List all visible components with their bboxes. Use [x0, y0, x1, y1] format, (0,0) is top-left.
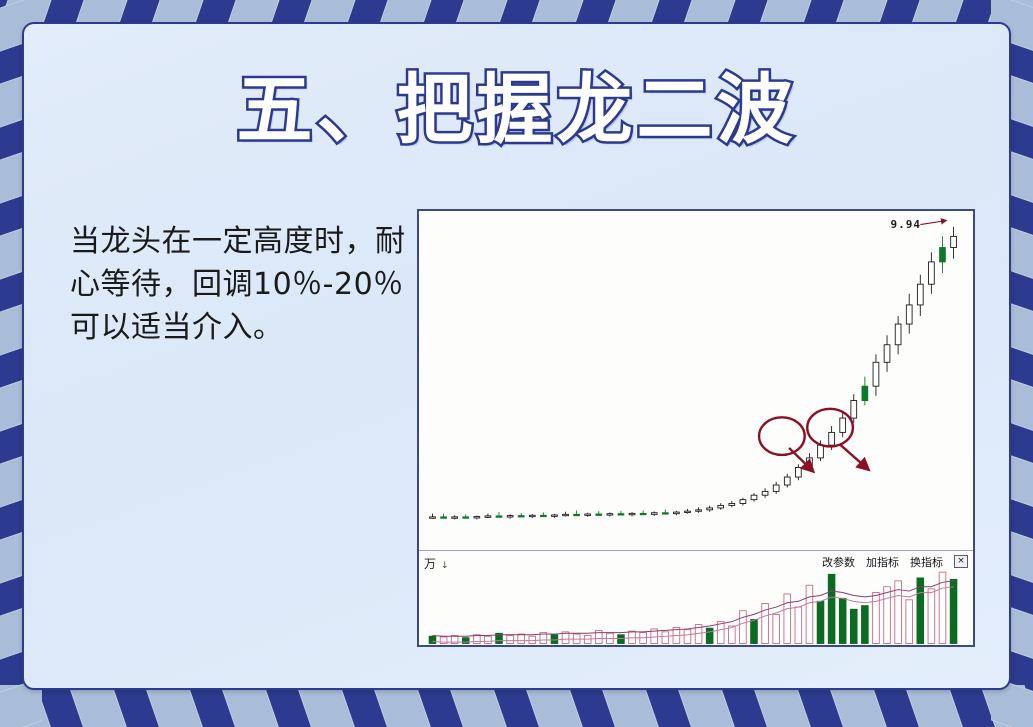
ray — [902, 685, 965, 727]
ray — [674, 685, 737, 727]
close-icon[interactable]: × — [954, 555, 968, 568]
price-label: 9.94 — [891, 218, 922, 231]
volume-unit: 万↓ — [424, 555, 449, 572]
volume-unit-label: 万 — [424, 557, 436, 571]
content-card: 五、把握龙二波 当龙头在一定高度时，耐心等待，回调10％-20％可以适当介入。 … — [22, 22, 1011, 690]
ray — [370, 685, 433, 727]
switch-indicator-button[interactable]: 换指标 — [910, 554, 943, 570]
indicator-toolbar[interactable]: 改参数 加指标 换指标 × — [822, 554, 968, 570]
chart-inner: 9.94 万↓ 改参数 加指标 换指标 × — [419, 211, 973, 645]
slide-root: 五、把握龙二波 当龙头在一定高度时，耐心等待，回调10％-20％可以适当介入。 … — [0, 0, 1033, 727]
page-title: 五、把握龙二波 — [24, 72, 1009, 148]
ray — [826, 685, 889, 727]
volume-unit-tick: ↓ — [441, 561, 449, 571]
ray — [750, 685, 813, 727]
add-indicator-button[interactable]: 加指标 — [866, 554, 899, 570]
ray — [142, 685, 205, 727]
price-pane: 9.94 — [419, 211, 973, 550]
price-candles-svg — [419, 211, 973, 550]
ray — [446, 685, 509, 727]
ray — [598, 685, 661, 727]
ray-band-bottom — [0, 685, 1033, 727]
change-params-button[interactable]: 改参数 — [822, 554, 855, 570]
ray — [522, 685, 585, 727]
ray — [218, 685, 281, 727]
ray — [66, 685, 129, 727]
ray — [294, 685, 357, 727]
body-paragraph: 当龙头在一定高度时，耐心等待，回调10％-20％可以适当介入。 — [70, 220, 410, 350]
stock-chart[interactable]: 9.94 万↓ 改参数 加指标 换指标 × — [417, 209, 975, 647]
volume-pane: 万↓ 改参数 加指标 换指标 × — [419, 550, 973, 645]
